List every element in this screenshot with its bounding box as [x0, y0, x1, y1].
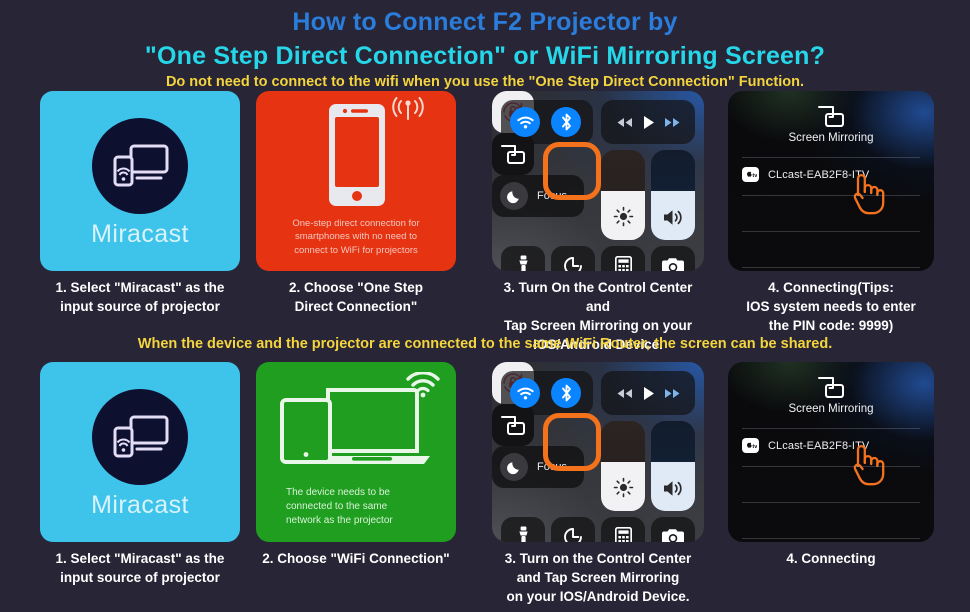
wifi-icon[interactable] [510, 378, 540, 408]
connectivity-tile[interactable] [501, 100, 593, 144]
wifi-icon[interactable] [510, 107, 540, 137]
screen-mirroring-highlight-ring [543, 142, 601, 200]
smartphone-icon [328, 103, 386, 207]
forward-icon[interactable] [664, 117, 681, 128]
flashlight-icon[interactable] [501, 517, 545, 542]
svg-text:tv: tv [752, 173, 757, 179]
bluetooth-icon[interactable] [551, 107, 581, 137]
step-card-connecting: Screen Mirroring tv CLcast-EAB2F8-ITV [728, 91, 934, 335]
wifi-connection-body: The device needs to be connected to the … [286, 486, 393, 528]
camera-icon[interactable] [651, 246, 695, 271]
timer-icon[interactable] [551, 517, 595, 542]
moon-icon [500, 182, 528, 210]
page-subtitle: Do not need to connect to the wifi when … [0, 74, 970, 90]
screen-mirroring-header: Screen Mirroring [728, 376, 934, 415]
screencast-icon [92, 389, 188, 485]
divider [742, 466, 920, 467]
page-title-line1: How to Connect F2 Projector by [0, 8, 970, 37]
screen-mirroring-header: Screen Mirroring [728, 105, 934, 144]
play-icon[interactable] [642, 386, 655, 401]
screen-mirroring-icon [728, 376, 934, 399]
brightness-slider[interactable] [601, 421, 645, 511]
brightness-icon [601, 206, 645, 227]
screen-mirroring-title: Screen Mirroring [728, 403, 934, 415]
screen-mirroring-icon [728, 105, 934, 128]
svg-text:tv: tv [752, 444, 757, 450]
wifi-connection-card[interactable]: The device needs to be connected to the … [256, 362, 456, 542]
miracast-label: Miracast [91, 220, 189, 249]
miracast-card[interactable]: Miracast [40, 362, 240, 542]
one-step-card[interactable]: One-step direct connection for smartphon… [256, 91, 456, 271]
divider [742, 428, 920, 429]
step-caption: 2. Choose "WiFi Connection" [256, 549, 456, 568]
infographic-canvas: How to Connect F2 Projector by "One Step… [0, 0, 970, 600]
step-card-miracast: Miracast 1. Select "Miracast" as the inp… [40, 362, 240, 587]
step-caption: 1. Select "Miracast" as the input source… [40, 549, 240, 587]
volume-icon [651, 479, 695, 498]
flashlight-icon[interactable] [501, 246, 545, 271]
one-step-body: One-step direct connection for smartphon… [256, 217, 456, 258]
camera-icon[interactable] [651, 517, 695, 542]
divider [742, 267, 920, 268]
media-controls-tile[interactable] [601, 100, 695, 144]
timer-icon[interactable] [551, 246, 595, 271]
miracast-card[interactable]: Miracast [40, 91, 240, 271]
step-caption: 4. Connecting(Tips: IOS system needs to … [728, 278, 934, 335]
forward-icon[interactable] [664, 388, 681, 399]
rewind-icon[interactable] [616, 117, 633, 128]
pointing-hand-icon [846, 440, 888, 486]
screen-mirroring-title: Screen Mirroring [728, 132, 934, 144]
steps-row-one: Miracast 1. Select "Miracast" as the inp… [0, 91, 970, 341]
divider [742, 538, 920, 539]
bluetooth-icon[interactable] [551, 378, 581, 408]
step-caption: 1. Select "Miracast" as the input source… [40, 278, 240, 316]
volume-slider[interactable] [651, 421, 695, 511]
volume-icon [651, 208, 695, 227]
pointing-hand-icon [846, 169, 888, 215]
screen-mirroring-highlight-ring [543, 413, 601, 471]
divider [742, 195, 920, 196]
step-card-control-center: Focus [492, 91, 704, 354]
connectivity-tile[interactable] [501, 371, 593, 415]
step-caption: 4. Connecting [728, 549, 934, 568]
apple-tv-icon: tv [742, 167, 759, 182]
step-card-one-step: One-step direct connection for smartphon… [256, 91, 456, 316]
middle-banner: When the device and the projector are co… [0, 336, 970, 352]
divider [742, 502, 920, 503]
step-caption: 2. Choose "One Step Direct Connection" [256, 278, 456, 316]
screen-mirroring-panel[interactable]: Screen Mirroring tv CLcast-EAB2F8-ITV [728, 91, 934, 271]
control-center-panel[interactable]: Focus [492, 362, 704, 542]
brightness-icon [601, 477, 645, 498]
step-card-connecting: Screen Mirroring tv CLcast-EAB2F8-ITV [728, 362, 934, 568]
step-card-miracast: Miracast 1. Select "Miracast" as the inp… [40, 91, 240, 316]
screen-mirroring-panel[interactable]: Screen Mirroring tv CLcast-EAB2F8-ITV [728, 362, 934, 542]
moon-icon [500, 453, 528, 481]
control-center-panel[interactable]: Focus [492, 91, 704, 271]
miracast-label: Miracast [91, 491, 189, 520]
step-card-control-center: Focus [492, 362, 704, 606]
volume-slider[interactable] [651, 150, 695, 240]
tablet-laptop-icon [280, 380, 432, 472]
brightness-slider[interactable] [601, 150, 645, 240]
step-card-wifi-connection: The device needs to be connected to the … [256, 362, 456, 568]
steps-row-two: Miracast 1. Select "Miracast" as the inp… [0, 362, 970, 612]
calculator-icon[interactable] [601, 517, 645, 542]
step-caption: 3. Turn on the Control Center and Tap Sc… [492, 549, 704, 606]
divider [742, 231, 920, 232]
media-controls-tile[interactable] [601, 371, 695, 415]
apple-tv-icon: tv [742, 438, 759, 453]
page-title-line2: "One Step Direct Connection" or WiFi Mir… [0, 42, 970, 71]
calculator-icon[interactable] [601, 246, 645, 271]
broadcast-antenna-icon [391, 97, 425, 123]
rewind-icon[interactable] [616, 388, 633, 399]
divider [742, 157, 920, 158]
screencast-icon [92, 118, 188, 214]
play-icon[interactable] [642, 115, 655, 130]
